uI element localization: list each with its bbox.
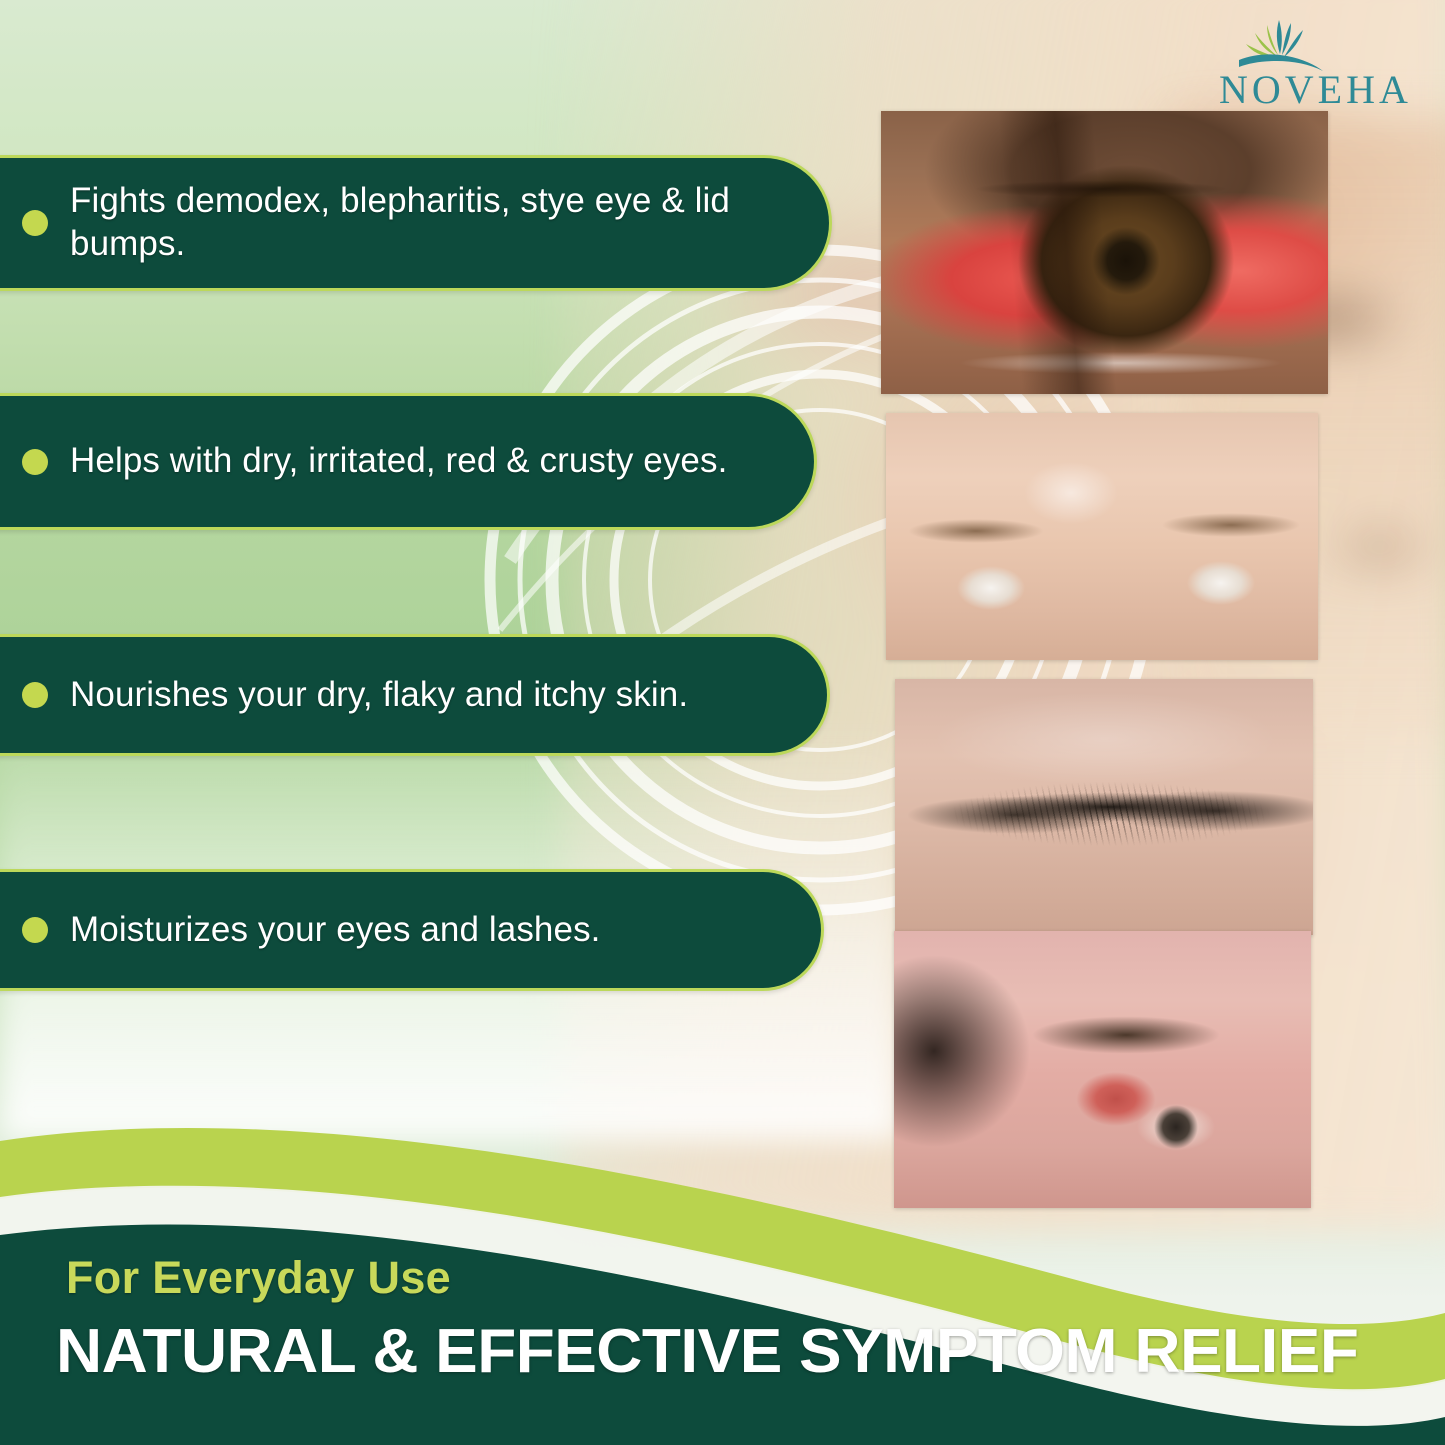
symptom-photo-2 [886, 413, 1318, 660]
dry-flaky-skin-around-eyes-photo [886, 413, 1318, 660]
benefit-pill-1: Fights demodex, blepharitis, stye eye & … [0, 155, 832, 291]
symptom-photo-3 [895, 679, 1313, 935]
bottom-wave-decoration [0, 1045, 1445, 1445]
bullet-dot-icon [22, 682, 48, 708]
benefit-text: Moisturizes your eyes and lashes. [70, 909, 641, 952]
closed-eye-lashes-crusty-lid-photo [895, 679, 1313, 935]
promo-image-root: NOVEHA Fights demodex, blepharitis, stye… [0, 0, 1445, 1445]
benefit-pill-3: Nourishes your dry, flaky and itchy skin… [0, 634, 830, 756]
bullet-dot-icon [22, 917, 48, 943]
bloodshot-red-eye-photo [881, 111, 1328, 394]
brand-name: NOVEHA [1219, 70, 1409, 110]
bullet-dot-icon [22, 210, 48, 236]
symptom-photo-1 [881, 111, 1328, 394]
brand-logo: NOVEHA [1219, 14, 1409, 110]
bullet-dot-icon [22, 449, 48, 475]
benefit-text: Helps with dry, irritated, red & crusty … [70, 440, 767, 483]
benefit-pill-4: Moisturizes your eyes and lashes. [0, 869, 824, 991]
benefit-pill-2: Helps with dry, irritated, red & crusty … [0, 393, 817, 530]
benefit-text: Fights demodex, blepharitis, stye eye & … [70, 180, 829, 265]
benefit-text: Nourishes your dry, flaky and itchy skin… [70, 674, 728, 717]
